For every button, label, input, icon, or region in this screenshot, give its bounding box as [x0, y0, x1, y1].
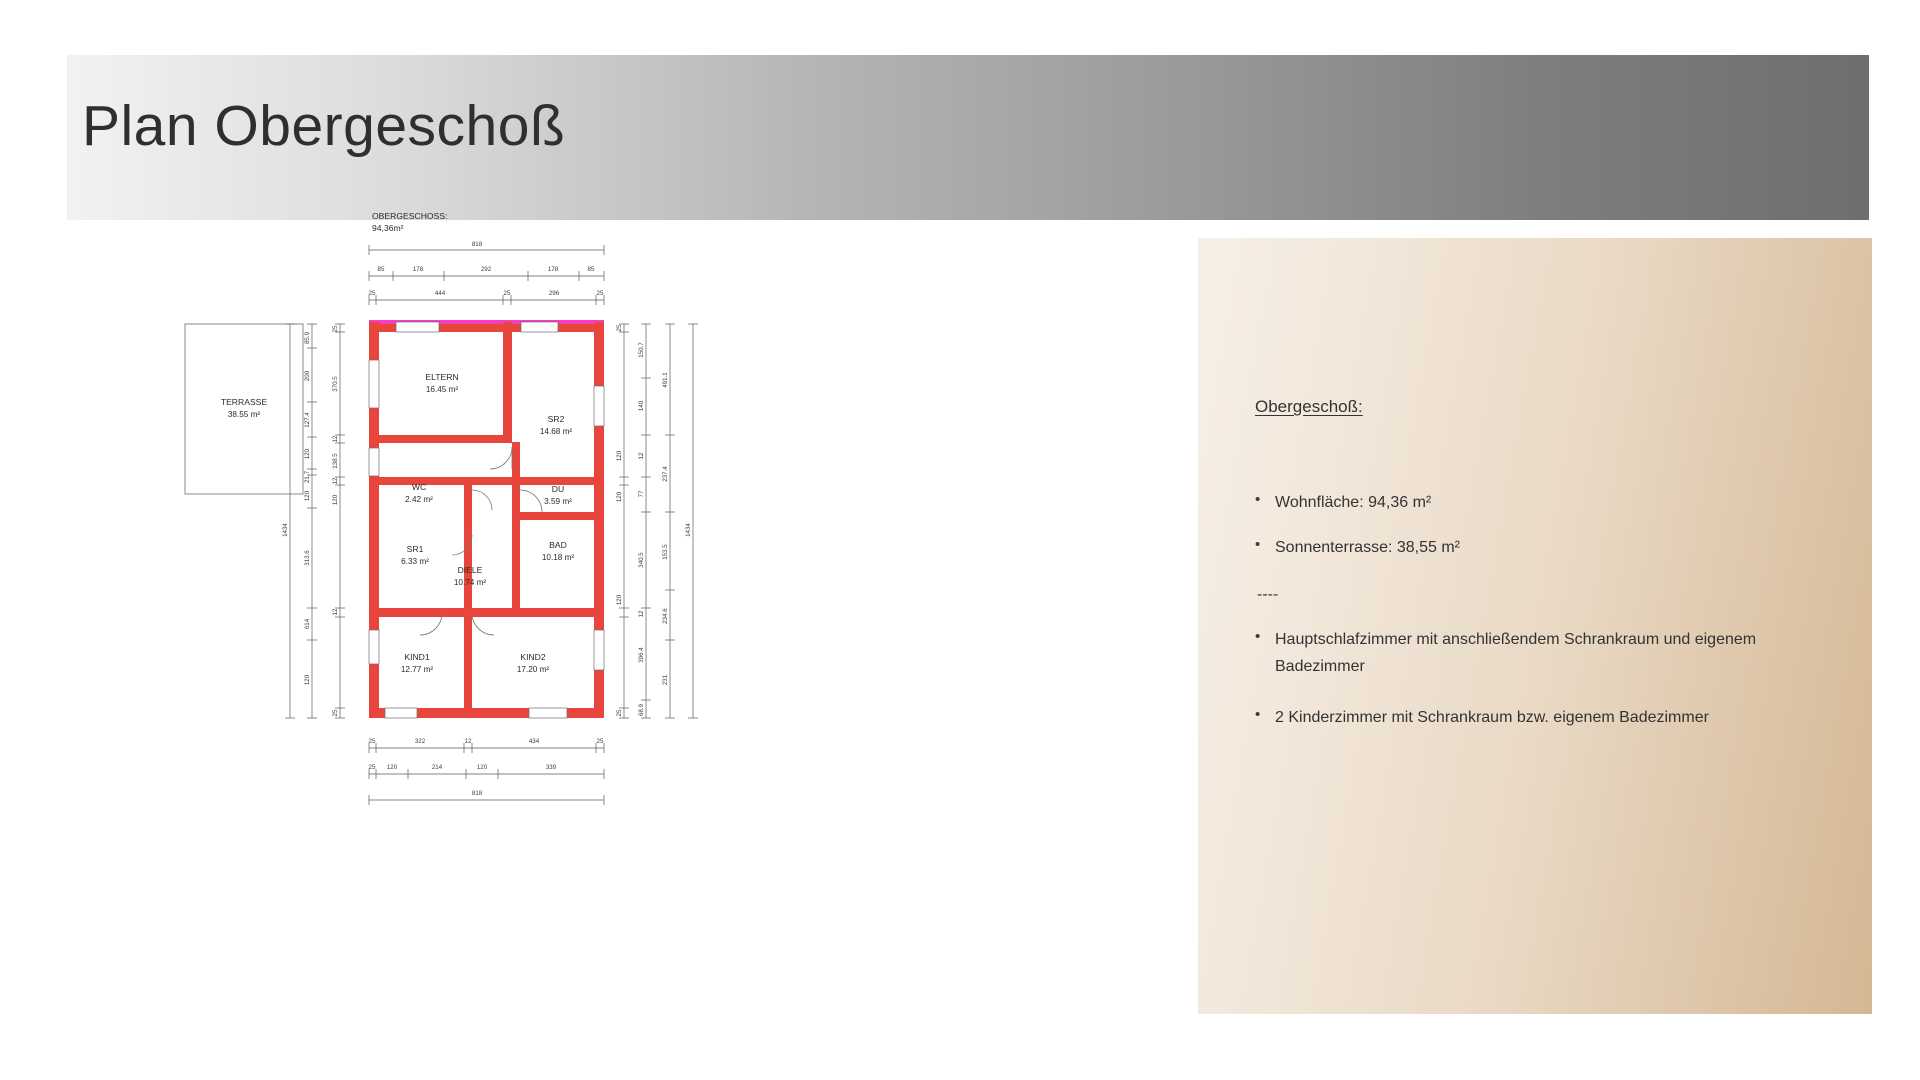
svg-text:12: 12: [332, 608, 339, 615]
svg-text:12: 12: [638, 610, 645, 617]
svg-text:818: 818: [472, 790, 483, 797]
svg-text:491.1: 491.1: [662, 372, 669, 388]
room-area-sr1: 6.33 m²: [401, 557, 429, 566]
svg-text:339: 339: [546, 764, 557, 771]
room-name-sr2: SR2: [548, 414, 565, 424]
svg-text:200: 200: [304, 370, 311, 381]
svg-text:25: 25: [504, 290, 511, 297]
svg-text:296: 296: [549, 290, 560, 297]
svg-text:68.9: 68.9: [638, 703, 645, 716]
svg-text:25: 25: [369, 290, 376, 297]
dim-top-overall: 818: [369, 241, 604, 255]
list-item: • Wohnfläche: 94,36 m²: [1255, 489, 1815, 516]
room-area-wc: 2.42 m²: [405, 495, 433, 504]
room-name-diele: DIELE: [458, 565, 483, 575]
list-item-label: Wohnfläche: 94,36 m²: [1275, 489, 1431, 516]
bullet-icon: •: [1255, 626, 1275, 648]
bullet-icon: •: [1255, 704, 1275, 726]
svg-text:140: 140: [638, 400, 645, 411]
room-name-kind2: KIND2: [520, 652, 546, 662]
separator-text: ----: [1257, 586, 1278, 604]
svg-text:150.7: 150.7: [638, 342, 645, 358]
svg-text:120: 120: [387, 764, 398, 771]
svg-text:237.4: 237.4: [662, 466, 669, 482]
svg-text:313.6: 313.6: [304, 550, 311, 566]
svg-text:12: 12: [465, 738, 472, 745]
room-labels: ELTERN 16.45 m² SR2 14.68 m² WC 2.42 m² …: [401, 372, 575, 674]
plan-header-line1: OBERGESCHOSS:: [372, 211, 447, 221]
svg-text:85.9: 85.9: [304, 331, 311, 344]
room-name-kind1: KIND1: [404, 652, 430, 662]
bullet-icon: •: [1255, 534, 1275, 556]
list-item-label: Sonnenterrasse: 38,55 m²: [1275, 534, 1460, 561]
terrace-name: TERRASSE: [221, 397, 268, 407]
svg-text:178: 178: [548, 266, 559, 273]
svg-text:614: 614: [304, 618, 311, 629]
svg-text:25: 25: [369, 738, 376, 745]
svg-text:1434: 1434: [685, 523, 692, 537]
svg-text:120: 120: [304, 674, 311, 685]
terrace-outline: TERRASSE 38.55 m²: [185, 324, 303, 494]
svg-text:818: 818: [472, 241, 483, 248]
list-item: • Sonnenterrasse: 38,55 m²: [1255, 534, 1815, 561]
dim-bottom: 25 322 12 434 25 25 120 214 120 339 818: [369, 738, 604, 805]
svg-text:138.5: 138.5: [332, 453, 339, 469]
svg-text:25: 25: [369, 764, 376, 771]
room-name-bad: BAD: [549, 540, 567, 550]
svg-text:234.6: 234.6: [662, 608, 669, 624]
svg-text:120: 120: [616, 450, 623, 461]
svg-text:25: 25: [332, 709, 339, 716]
svg-text:25: 25: [616, 324, 623, 331]
dim-left: 1434 85.9 200 127.4 120 21.7 120 313.6 6…: [282, 324, 345, 718]
svg-text:12: 12: [332, 477, 339, 484]
svg-text:25: 25: [597, 290, 604, 297]
svg-text:340.5: 340.5: [638, 552, 645, 568]
plan-header-line2: 94,36m²: [372, 223, 404, 233]
room-area-diele: 10.74 m²: [454, 578, 487, 587]
svg-text:25: 25: [332, 325, 339, 332]
svg-text:85: 85: [588, 266, 595, 273]
svg-text:120: 120: [304, 490, 311, 501]
dim-right: 25 120 120 120 25 150.7 140 12 77 340.5 …: [616, 324, 698, 718]
svg-text:396.4: 396.4: [638, 647, 645, 663]
list-item-label: Hauptschlafzimmer mit anschließendem Sch…: [1275, 626, 1795, 680]
floor-plan-drawing: .ln { stroke:#5a5a5a; stroke-width:.7; f…: [180, 200, 900, 840]
svg-text:25: 25: [616, 709, 623, 716]
room-name-sr1: SR1: [407, 544, 424, 554]
doors: [420, 447, 542, 635]
svg-text:444: 444: [435, 290, 446, 297]
svg-text:21.7: 21.7: [304, 470, 311, 483]
room-area-kind1: 12.77 m²: [401, 665, 434, 674]
svg-text:434: 434: [529, 738, 540, 745]
list-item: • Hauptschlafzimmer mit anschließendem S…: [1255, 626, 1795, 680]
bullet-icon: •: [1255, 489, 1275, 511]
svg-text:77: 77: [638, 490, 645, 497]
svg-text:1434: 1434: [282, 523, 289, 537]
room-area-eltern: 16.45 m²: [426, 385, 459, 394]
svg-text:12: 12: [332, 435, 339, 442]
svg-text:120: 120: [477, 764, 488, 771]
svg-text:153.5: 153.5: [662, 544, 669, 560]
page-title: Plan Obergeschoß: [82, 95, 565, 158]
room-area-bad: 10.18 m²: [542, 553, 575, 562]
dim-top-chain-1: 85 178 292 178 85: [369, 266, 604, 281]
room-name-wc: WC: [412, 482, 426, 492]
svg-text:85: 85: [378, 266, 385, 273]
room-area-sr2: 14.68 m²: [540, 427, 573, 436]
svg-text:370.5: 370.5: [332, 376, 339, 392]
info-heading: Obergeschoß:: [1255, 397, 1363, 417]
svg-text:292: 292: [481, 266, 492, 273]
list-item-label: 2 Kinderzimmer mit Schrankraum bzw. eige…: [1275, 704, 1709, 731]
svg-text:322: 322: [415, 738, 426, 745]
svg-text:127.4: 127.4: [304, 412, 311, 428]
room-name-du: DU: [552, 484, 564, 494]
list-item: • 2 Kinderzimmer mit Schrankraum bzw. ei…: [1255, 704, 1815, 731]
svg-text:214: 214: [432, 764, 443, 771]
svg-text:25: 25: [597, 738, 604, 745]
svg-text:231: 231: [662, 674, 669, 685]
svg-text:178: 178: [413, 266, 424, 273]
svg-text:120: 120: [616, 491, 623, 502]
svg-text:120: 120: [304, 448, 311, 459]
room-name-eltern: ELTERN: [425, 372, 458, 382]
svg-text:120: 120: [332, 494, 339, 505]
room-area-du: 3.59 m²: [544, 497, 572, 506]
svg-text:120: 120: [616, 594, 623, 605]
room-area-kind2: 17.20 m²: [517, 665, 550, 674]
dim-top-chain-2: 25 444 25 296 25: [369, 290, 604, 305]
terrace-area: 38.55 m²: [228, 410, 261, 419]
svg-text:12: 12: [638, 452, 645, 459]
